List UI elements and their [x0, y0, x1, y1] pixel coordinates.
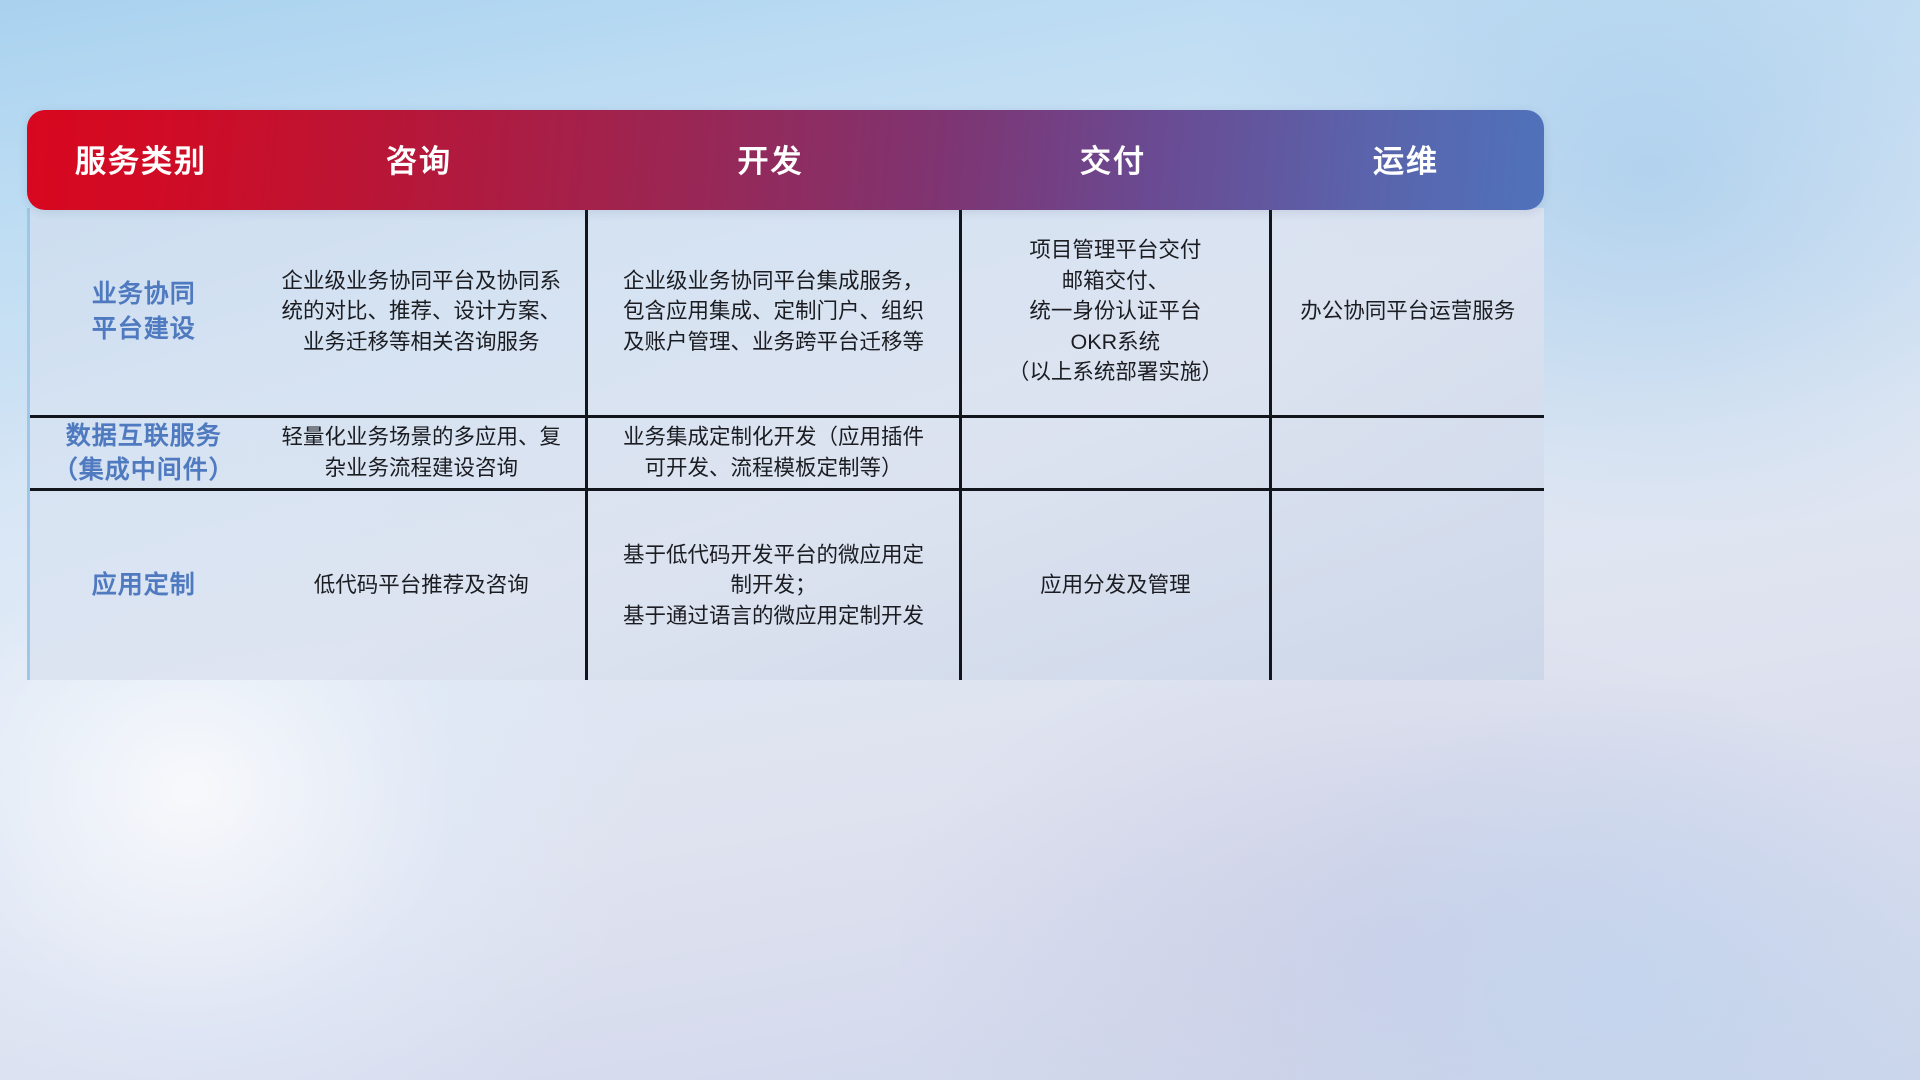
table-row: 数据互联服务 （集成中间件） 轻量化业务场景的多应用、复 杂业务流程建设咨询 业…: [30, 415, 1544, 488]
row-label-business-collaboration: 业务协同 平台建设: [30, 208, 258, 415]
column-header-operations: 运维: [1268, 110, 1544, 210]
cell-row2-operations: [1269, 491, 1544, 680]
cell-row2-development: 基于低代码开发平台的微应用定 制开发； 基于通过语言的微应用定制开发: [585, 491, 959, 680]
column-header-consulting: 咨询: [255, 110, 583, 210]
table-header-row: 服务类别 咨询 开发 交付 运维: [27, 110, 1544, 210]
table-row: 应用定制 低代码平台推荐及咨询 基于低代码开发平台的微应用定 制开发； 基于通过…: [30, 488, 1544, 680]
table-row: 业务协同 平台建设 企业级业务协同平台及协同系 统的对比、推荐、设计方案、 业务…: [30, 208, 1544, 415]
cell-row1-consulting: 轻量化业务场景的多应用、复 杂业务流程建设咨询: [258, 418, 585, 488]
service-matrix-table: 服务类别 咨询 开发 交付 运维 业务协同 平台建设 企业级业务协同平台及协同系…: [27, 110, 1544, 680]
cell-row1-development: 业务集成定制化开发（应用插件 可开发、流程模板定制等）: [585, 418, 959, 488]
cell-row0-operations: 办公协同平台运营服务: [1269, 208, 1544, 415]
row-label-data-interconnect: 数据互联服务 （集成中间件）: [30, 418, 258, 488]
column-header-development: 开发: [583, 110, 958, 210]
table-body: 业务协同 平台建设 企业级业务协同平台及协同系 统的对比、推荐、设计方案、 业务…: [27, 208, 1544, 680]
cell-row2-consulting: 低代码平台推荐及咨询: [258, 491, 585, 680]
cell-row0-development: 企业级业务协同平台集成服务， 包含应用集成、定制门户、组织 及账户管理、业务跨平…: [585, 208, 959, 415]
row-label-app-customization: 应用定制: [30, 491, 258, 680]
cell-row1-operations: [1269, 418, 1544, 488]
column-header-category: 服务类别: [27, 110, 255, 210]
cell-row1-delivery: [959, 418, 1268, 488]
cell-row0-delivery: 项目管理平台交付 邮箱交付、 统一身份认证平台 OKR系统 （以上系统部署实施）: [959, 208, 1268, 415]
cell-row0-consulting: 企业级业务协同平台及协同系 统的对比、推荐、设计方案、 业务迁移等相关咨询服务: [258, 208, 585, 415]
background-glow-bottom-right: [1220, 680, 1920, 1080]
cell-row2-delivery: 应用分发及管理: [959, 491, 1268, 680]
column-header-delivery: 交付: [958, 110, 1268, 210]
